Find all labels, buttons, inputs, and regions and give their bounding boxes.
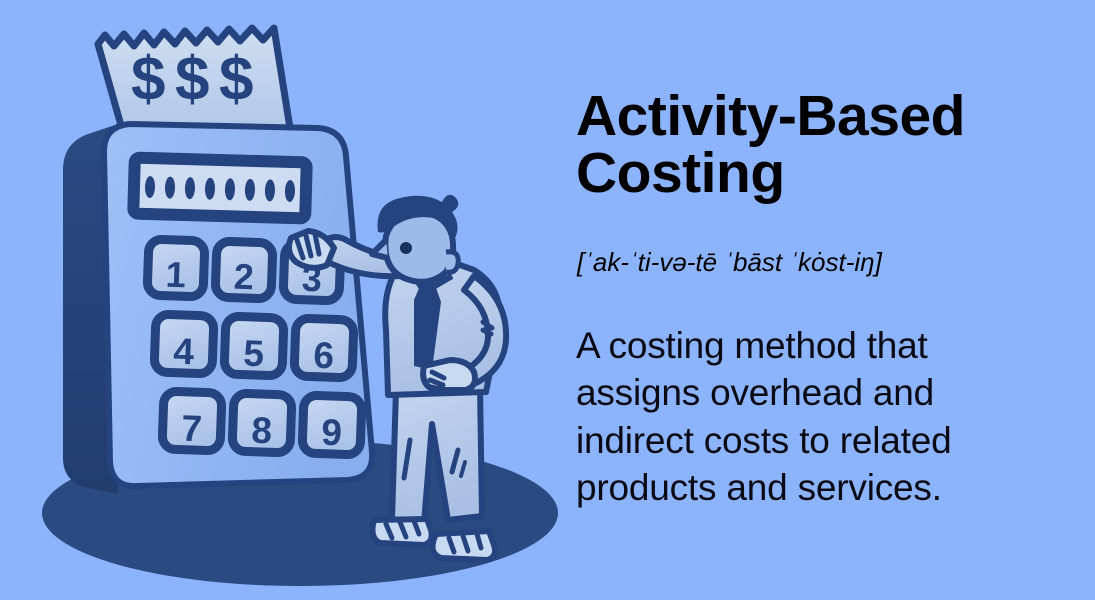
calculator-display xyxy=(133,158,306,219)
dollar-signs: $ $ $ xyxy=(131,45,253,114)
pronunciation-text: [ˈak-ˈti-və-tē ˈbāst ˈkȯst-iŋ] xyxy=(577,248,1057,277)
keypad-row-2: 4 5 6 xyxy=(154,314,354,378)
svg-text:2: 2 xyxy=(233,256,254,298)
illustration-panel: $ $ $ xyxy=(0,0,560,600)
svg-text:$: $ xyxy=(131,45,165,114)
hand-on-hip xyxy=(423,360,475,390)
svg-text:8: 8 xyxy=(251,410,273,452)
nose xyxy=(372,240,388,258)
receipt-with-dollar-signs: $ $ $ xyxy=(98,28,290,136)
svg-text:$: $ xyxy=(175,45,209,114)
svg-text:6: 6 xyxy=(313,335,335,377)
definition-text: A costing method that assigns overhead a… xyxy=(576,322,996,511)
svg-text:7: 7 xyxy=(181,408,203,450)
svg-text:1: 1 xyxy=(165,254,186,296)
page-title: Activity-Based Costing xyxy=(576,88,1046,202)
definition-text-column: Activity-Based Costing [ˈak-ˈti-və-tē ˈb… xyxy=(576,0,1076,600)
svg-text:4: 4 xyxy=(173,331,195,373)
svg-text:5: 5 xyxy=(243,333,265,375)
businessman-with-giant-calculator-and-receipt-illustration: $ $ $ xyxy=(0,0,560,600)
svg-text:9: 9 xyxy=(321,412,343,454)
definition-card: $ $ $ xyxy=(0,0,1095,600)
giant-calculator: 1 2 3 4 5 6 7 xyxy=(63,124,372,494)
ear xyxy=(446,252,458,273)
svg-text:$: $ xyxy=(219,45,253,114)
keypad-row-3: 7 8 9 xyxy=(162,391,362,455)
hand-on-calculator-key xyxy=(289,231,334,268)
eye xyxy=(400,242,412,254)
